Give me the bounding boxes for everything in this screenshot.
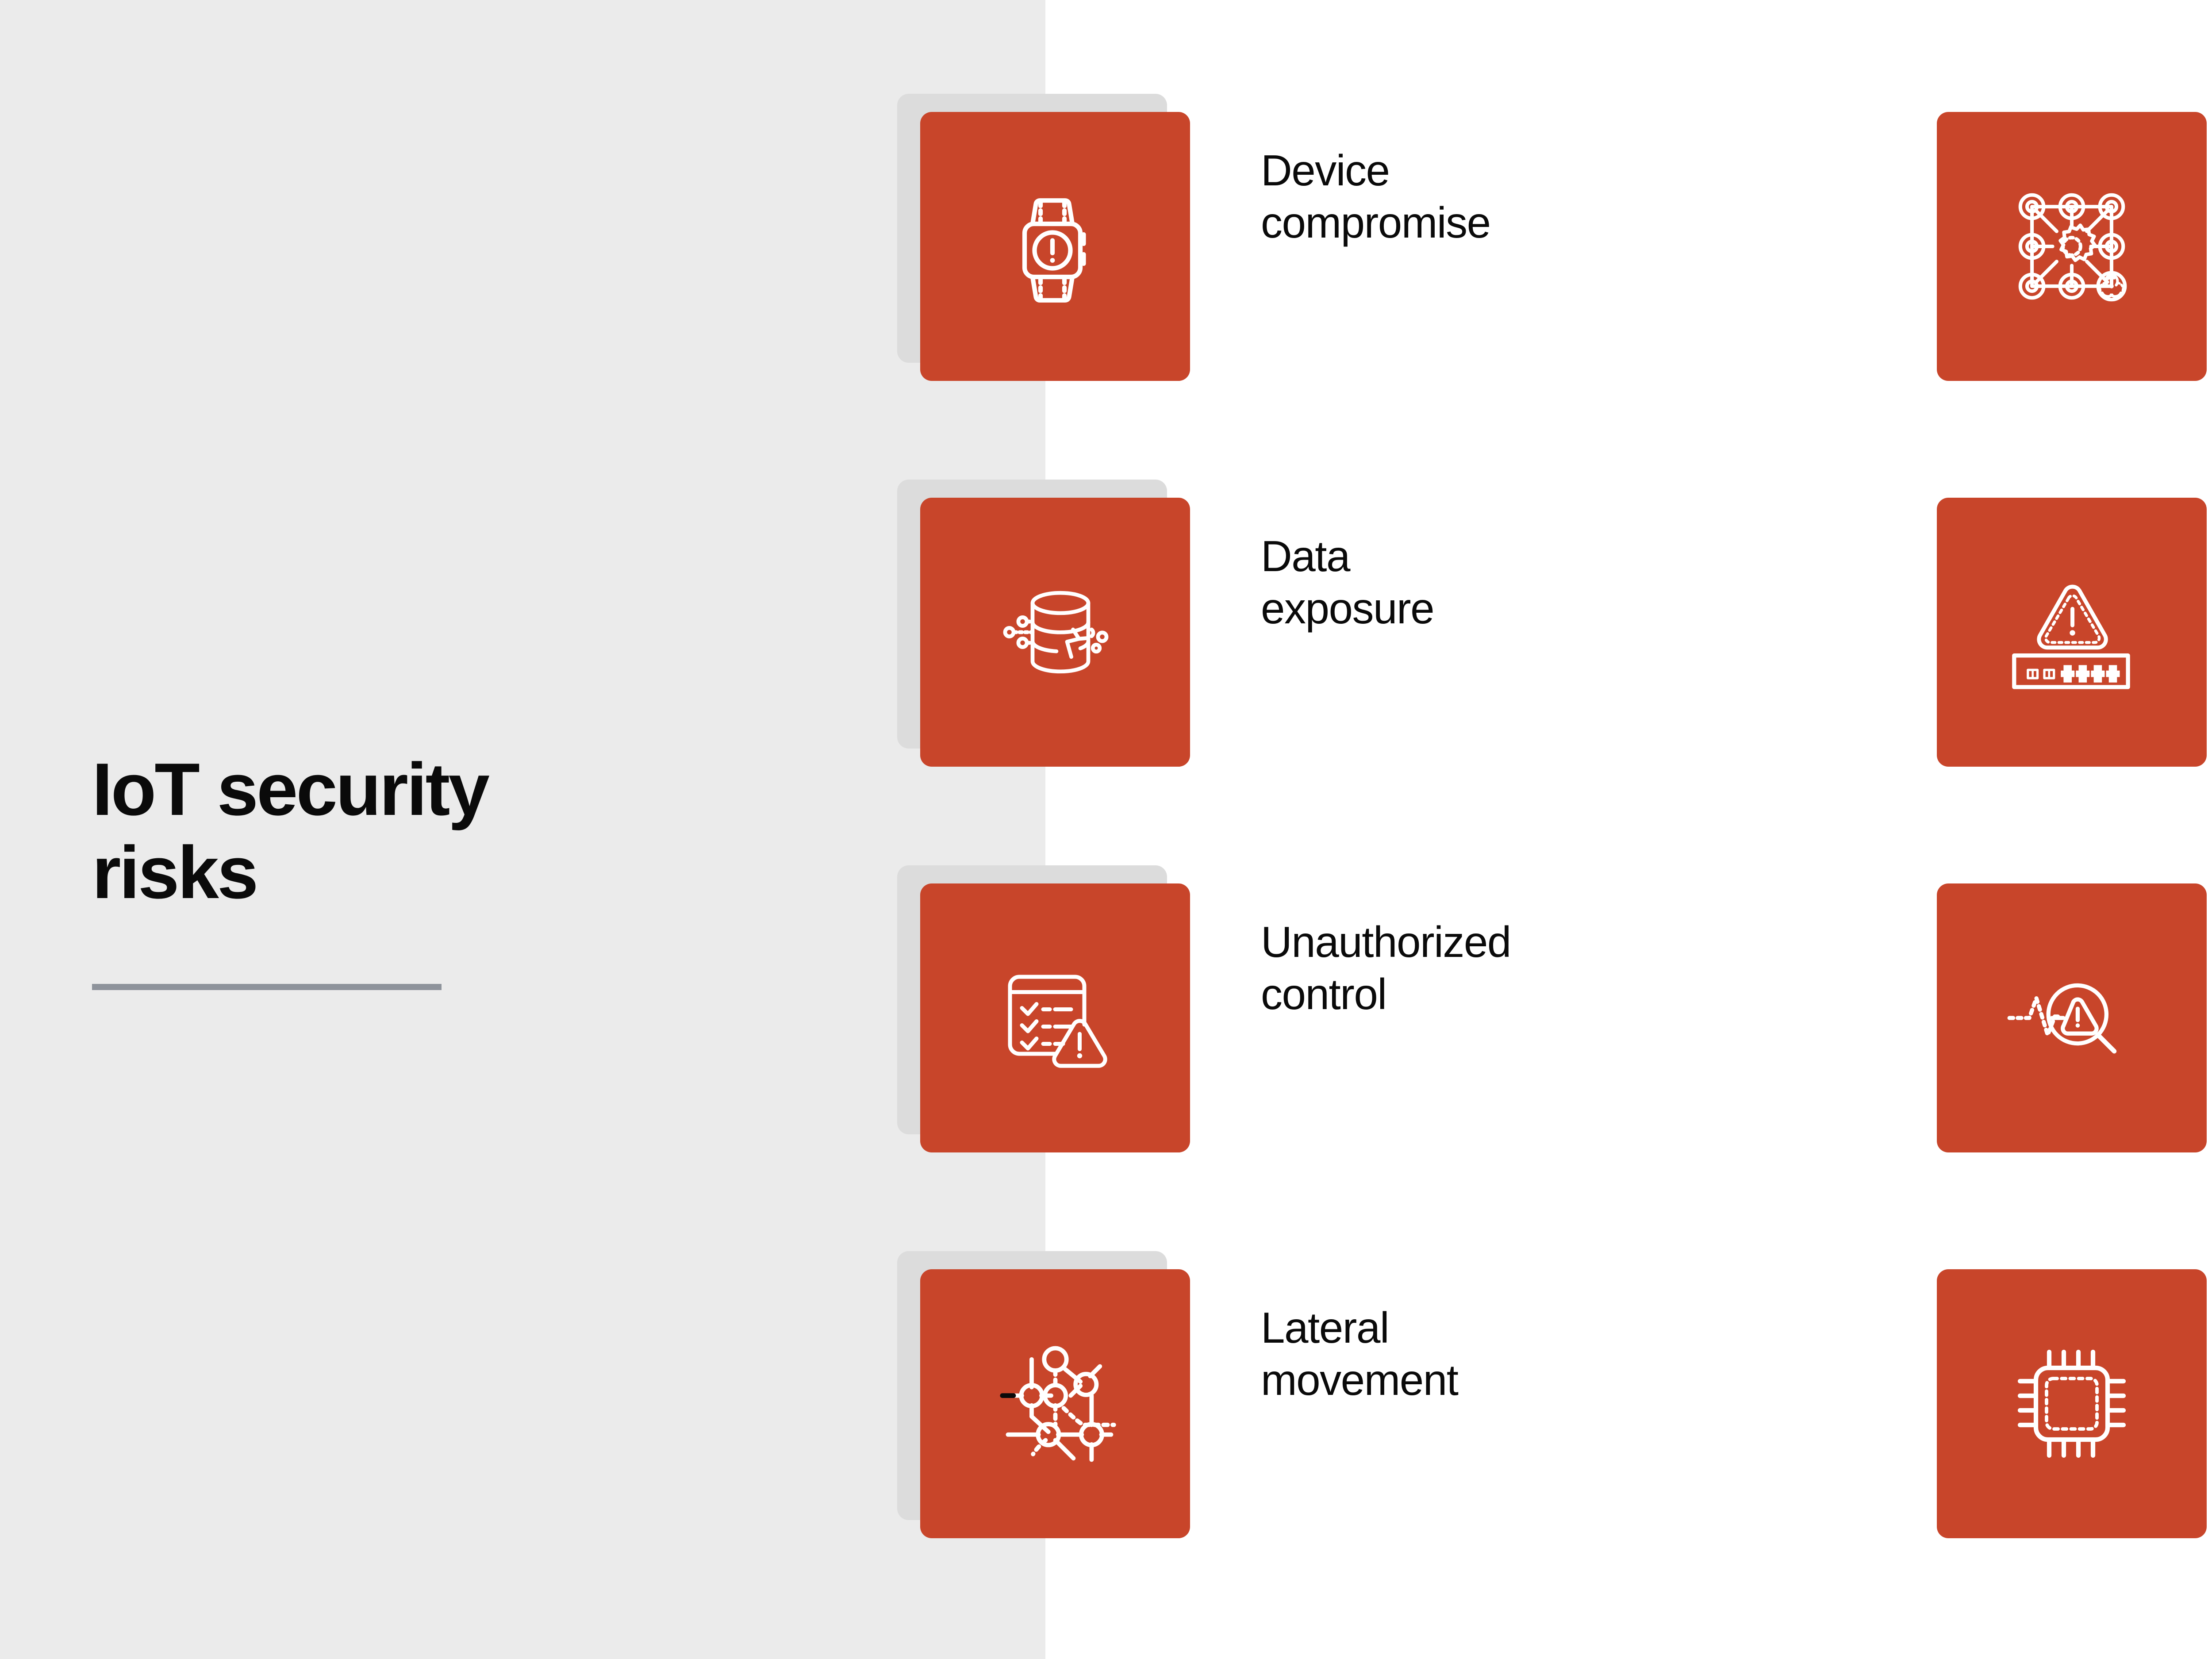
risk-item-ddos-participation[interactable]: DDoS participation bbox=[1937, 112, 2212, 381]
risk-label: Device compromise bbox=[1261, 112, 1827, 249]
risk-item-data-exposure[interactable]: Data exposure bbox=[920, 498, 1827, 767]
microchip-dashed-icon bbox=[2005, 1337, 2138, 1470]
tile-wrap bbox=[920, 112, 1190, 381]
checklist-warning-icon bbox=[989, 952, 1121, 1084]
risk-label: Data exposure bbox=[1261, 498, 1827, 634]
risk-grid: Device compromise bbox=[0, 0, 2212, 1659]
risk-item-lack-of-visibility[interactable]: Lack of visibility & monitoring bbox=[1937, 883, 2212, 1152]
icon-tile bbox=[1937, 498, 2207, 767]
risk-item-supply-chain-exposure[interactable]: Software & firmware supply chain exposur… bbox=[1937, 1269, 2212, 1538]
tile-wrap bbox=[1937, 112, 2207, 381]
icon-tile bbox=[920, 1269, 1190, 1538]
smartwatch-alert-icon bbox=[989, 180, 1121, 313]
icon-tile bbox=[1937, 1269, 2207, 1538]
risk-item-lateral-movement[interactable]: Lateral movement bbox=[920, 1269, 1827, 1538]
tile-wrap bbox=[920, 1269, 1190, 1538]
risk-label: Lateral movement bbox=[1261, 1269, 1827, 1406]
icon-tile bbox=[1937, 883, 2207, 1152]
switch-warning-icon bbox=[2003, 564, 2140, 701]
network-mesh-virus-icon bbox=[2003, 178, 2140, 315]
icon-tile bbox=[920, 112, 1190, 381]
tile-wrap bbox=[920, 498, 1190, 767]
tile-wrap bbox=[920, 883, 1190, 1152]
infographic-canvas: IoT security risks bbox=[0, 0, 2212, 1659]
risk-item-device-compromise[interactable]: Device compromise bbox=[920, 112, 1827, 381]
risk-item-physical-access-tampering[interactable]: Physical access & tampering bbox=[1937, 498, 2212, 767]
icon-tile bbox=[920, 498, 1190, 767]
risk-item-unauthorized-control[interactable]: Unauthorized control bbox=[920, 883, 1827, 1152]
tile-wrap bbox=[1937, 883, 2207, 1152]
tile-wrap bbox=[1937, 498, 2207, 767]
node-graph-paths-icon bbox=[986, 1334, 1125, 1474]
icon-tile bbox=[920, 883, 1190, 1152]
tile-wrap bbox=[1937, 1269, 2207, 1538]
cracked-database-icon bbox=[989, 566, 1121, 699]
magnifier-pulse-warning-icon bbox=[2001, 947, 2143, 1089]
icon-tile bbox=[1937, 112, 2207, 381]
risk-label: Unauthorized control bbox=[1261, 883, 1827, 1020]
